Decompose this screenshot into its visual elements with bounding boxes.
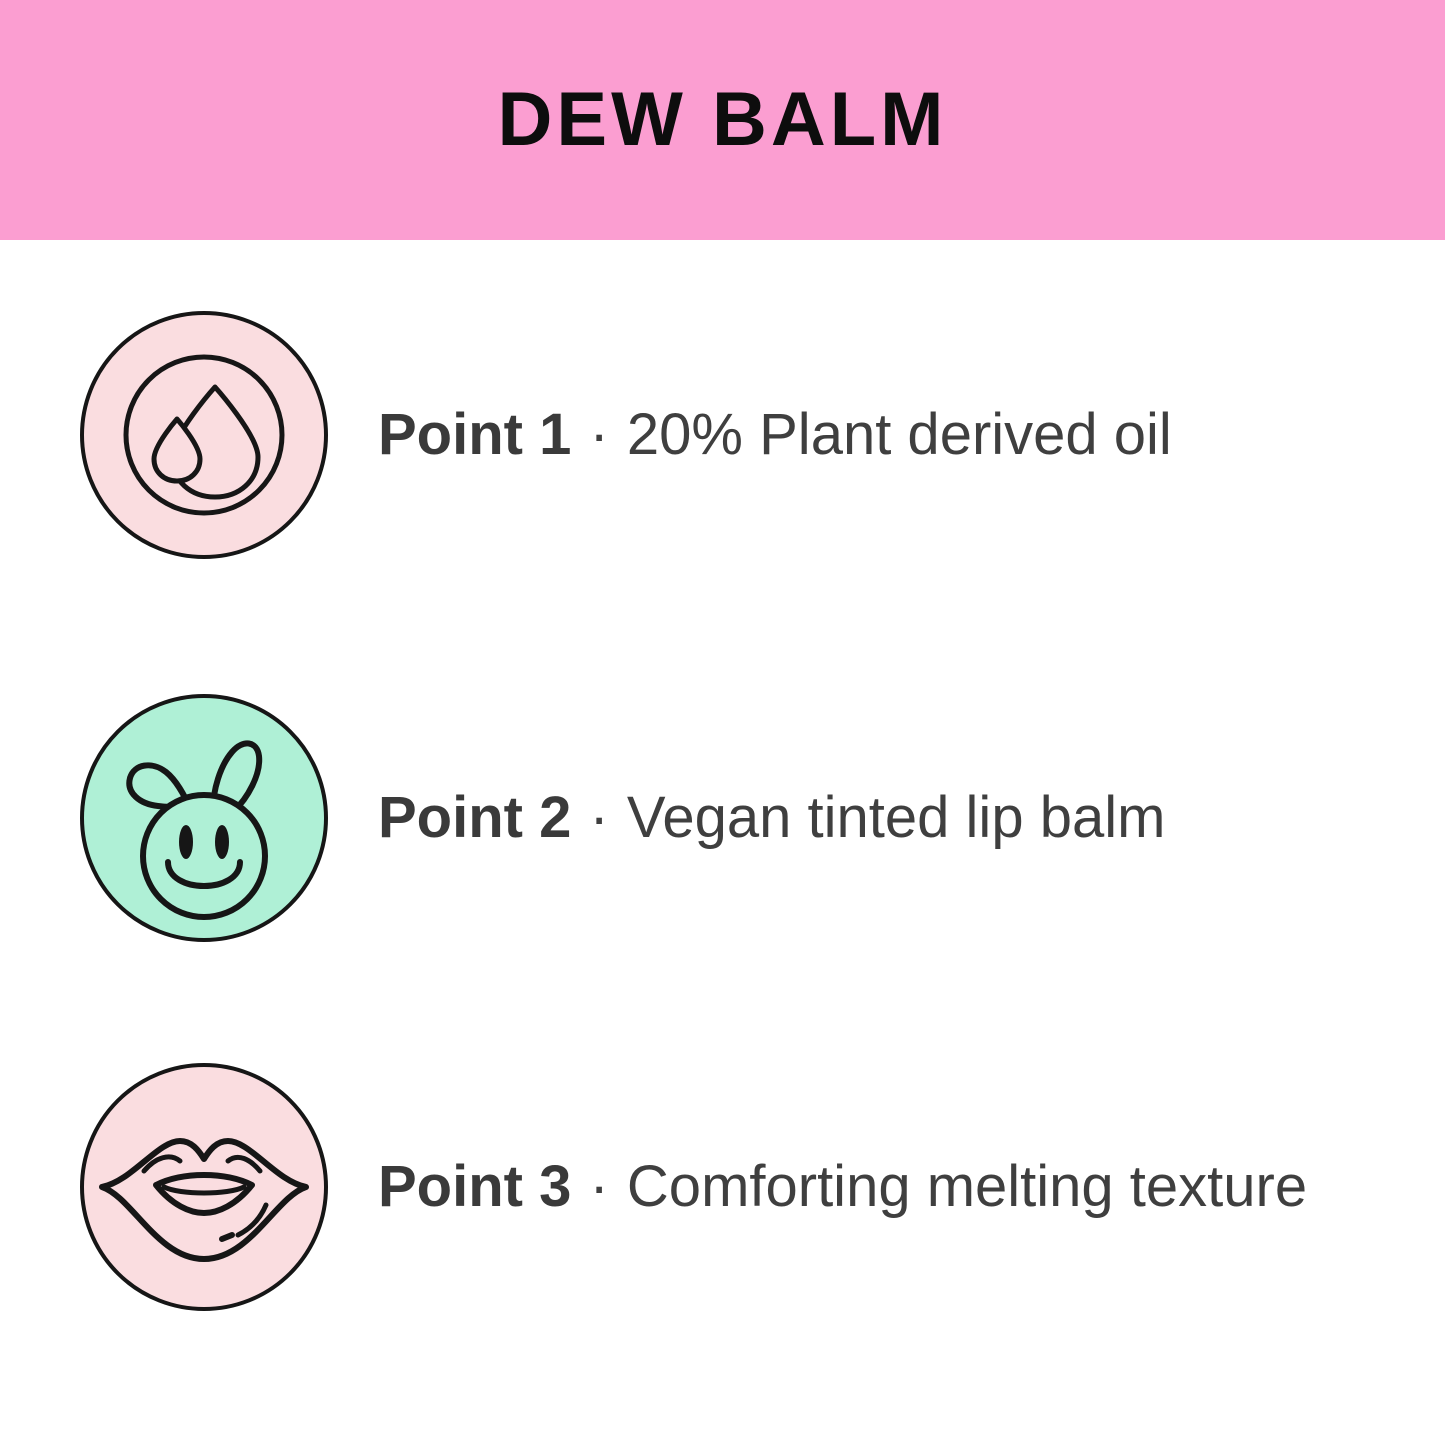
points-list: Point 1 · 20% Plant derived oil: [0, 240, 1445, 1445]
point-1-text: Point 1 · 20% Plant derived oil: [378, 403, 1172, 467]
point-3-text: Point 3 · Comforting melting texture: [378, 1155, 1307, 1219]
point-2-text: Point 2 · Vegan tinted lip balm: [378, 786, 1165, 850]
point-2-description: Vegan tinted lip balm: [627, 785, 1165, 850]
point-3-label: Point 3: [378, 1154, 571, 1219]
page-title: DEW BALM: [498, 82, 948, 158]
lips-icon: [80, 1063, 328, 1311]
point-row: Point 1 · 20% Plant derived oil: [0, 310, 1445, 560]
water-drop-icon: [80, 311, 328, 559]
point-1-separator: ·: [587, 402, 610, 467]
point-3-description: Comforting melting texture: [627, 1154, 1307, 1219]
point-2-separator: ·: [587, 785, 610, 850]
point-1-description: 20% Plant derived oil: [627, 402, 1172, 467]
point-row: Point 3 · Comforting melting texture: [0, 1062, 1445, 1312]
point-2-icon-wrap: [80, 694, 328, 942]
point-3-separator: ·: [587, 1154, 610, 1219]
point-1-icon-wrap: [80, 311, 328, 559]
point-3-icon-wrap: [80, 1063, 328, 1311]
point-2-label: Point 2: [378, 785, 571, 850]
header-banner: DEW BALM: [0, 0, 1445, 240]
point-1-label: Point 1: [378, 402, 571, 467]
point-row: Point 2 · Vegan tinted lip balm: [0, 693, 1445, 943]
bunny-smiley-icon: [80, 694, 328, 942]
